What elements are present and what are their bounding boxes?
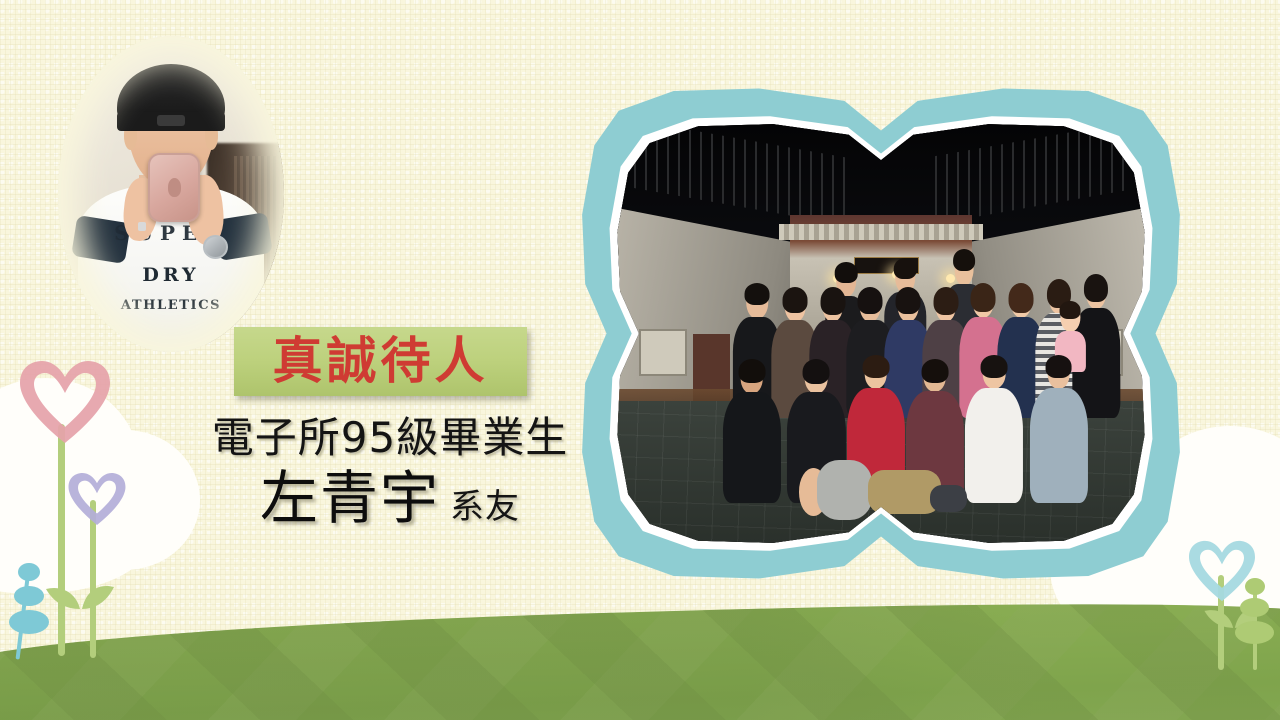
caption-name-line: 左青宇系友 [180, 467, 600, 531]
portrait-image: SUPER DRY ATHLETICS [58, 36, 284, 352]
bead-stem-green-bead-3 [1245, 578, 1265, 595]
group-photo-frame [576, 86, 1186, 581]
heart-flower-purple-petal [66, 470, 128, 528]
heart-flower-teal-petal [1186, 538, 1258, 604]
portrait-shirt-text-1: SUPER [58, 221, 284, 245]
caption-person-role: 系友 [450, 487, 520, 527]
person [725, 363, 779, 503]
bead-stem-green-bead-2 [1240, 598, 1269, 617]
person [1032, 359, 1086, 503]
hill-texture [0, 593, 1280, 720]
leaf-pair-left [36, 575, 126, 615]
caption-block: 電子所95級畢業生 左青宇系友 [180, 414, 600, 531]
caption-person-name: 左青宇 [260, 464, 440, 532]
portrait-photo: SUPER DRY ATHLETICS [58, 36, 284, 352]
green-hill [0, 593, 1280, 720]
bead-stem-blue-bead-1 [9, 610, 49, 634]
motto-banner: 真誠待人 [234, 327, 527, 396]
heart-flower-pink-petal [16, 357, 114, 447]
caption-program-line: 電子所95級畢業生 [180, 414, 600, 461]
group-photo-image [612, 122, 1150, 545]
slide-canvas: SUPER DRY ATHLETICS 真誠待人 電子所95級畢業生 左青宇系友 [0, 0, 1280, 720]
portrait-shirt-text-3: ATHLETICS [58, 298, 284, 313]
motto-banner-text: 真誠待人 [273, 336, 489, 386]
portrait-shirt-text-2: DRY [58, 264, 284, 286]
bead-stem-blue-bead-3 [18, 563, 40, 581]
bead-stem-blue-bead-2 [14, 586, 44, 606]
heart-flower-pink-stem [58, 424, 65, 656]
bead-stem-green-bead-1 [1235, 621, 1274, 644]
